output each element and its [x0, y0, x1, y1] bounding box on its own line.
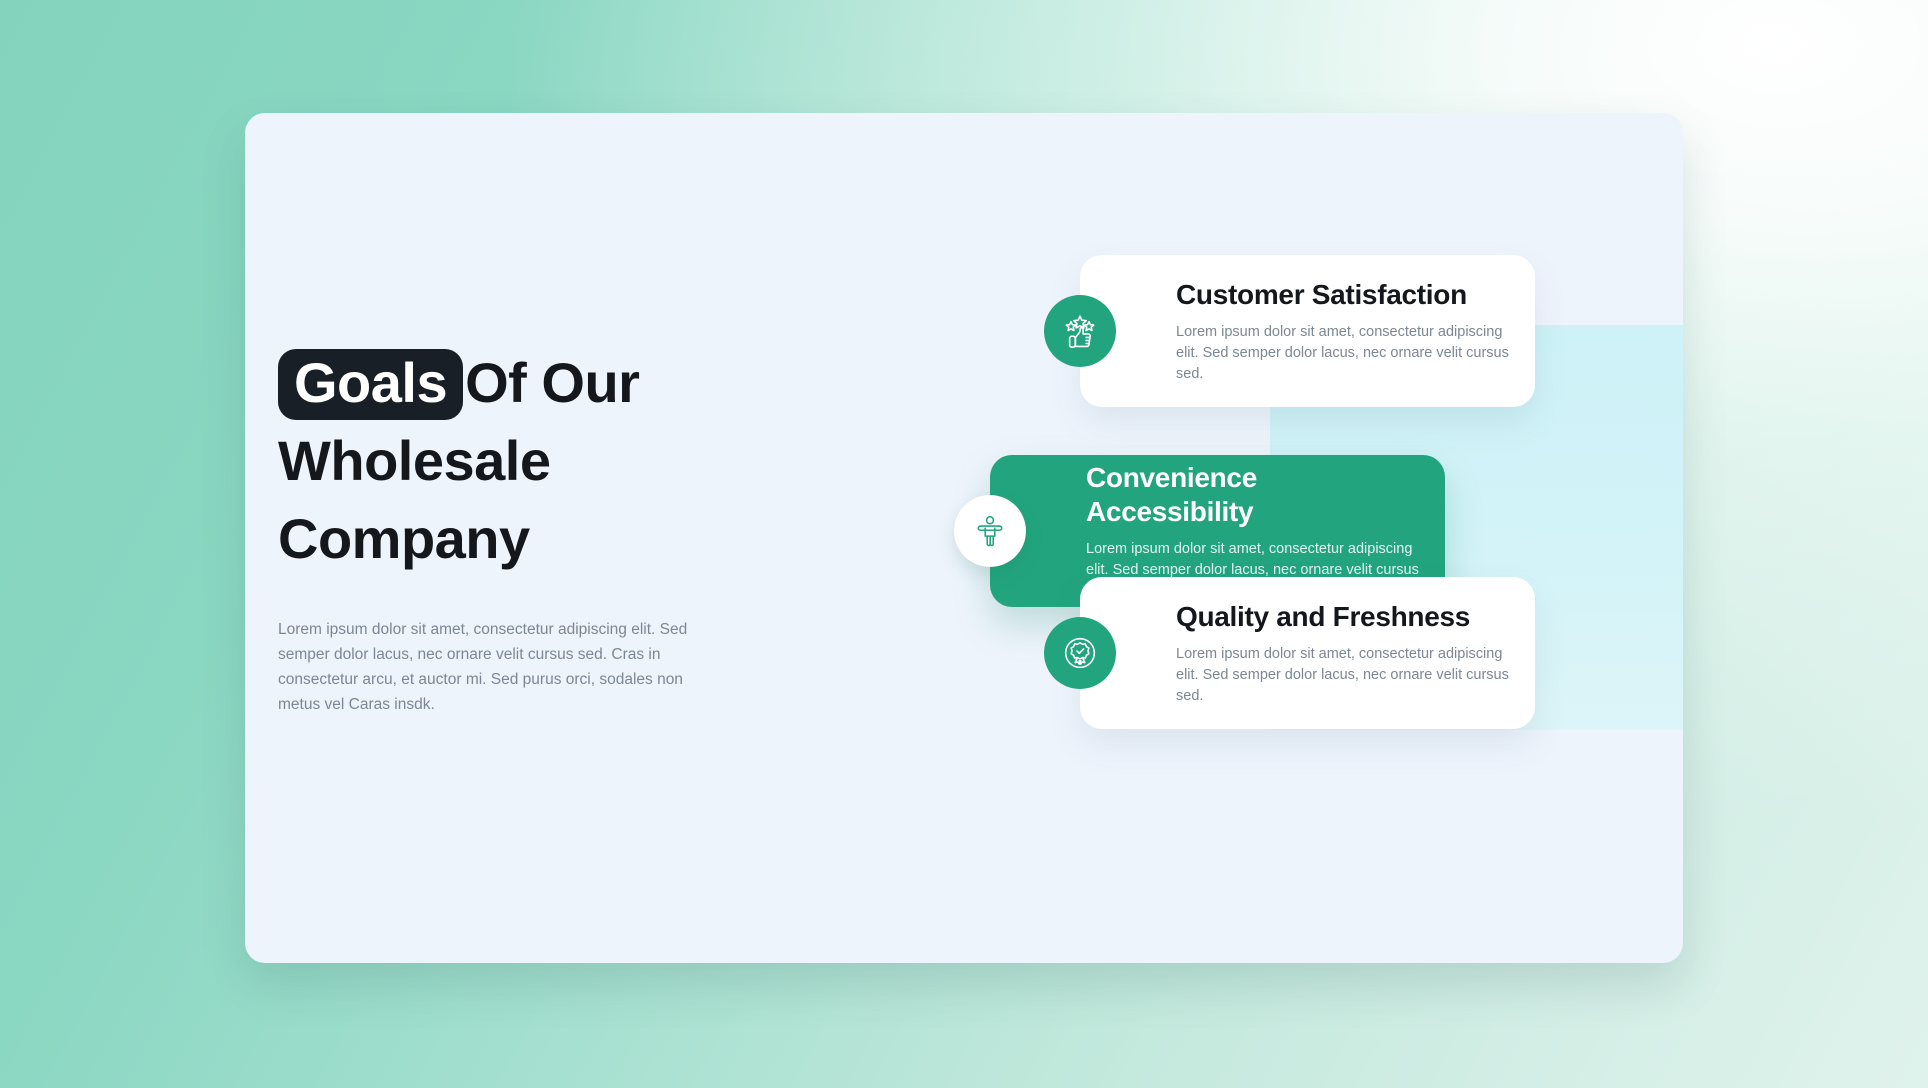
card-description: Lorem ipsum dolor sit amet, consectetur … [1176, 322, 1509, 385]
feature-card-quality-freshness[interactable]: Quality and Freshness Lorem ipsum dolor … [1080, 577, 1535, 729]
slide-canvas: GoalsOf Our Wholesale Company Lorem ipsu… [0, 0, 1928, 1088]
headline-line-3: Company [278, 501, 798, 577]
page-title: GoalsOf Our Wholesale Company [278, 345, 798, 577]
award-badge-check-icon [1044, 617, 1116, 689]
intro-paragraph: Lorem ipsum dolor sit amet, consectetur … [278, 617, 690, 717]
card-body: Quality and Freshness Lorem ipsum dolor … [1080, 600, 1535, 707]
thumbs-up-stars-icon [1044, 295, 1116, 367]
headline-after-chip: Of Our [465, 351, 639, 414]
headline-highlight-chip: Goals [278, 349, 463, 420]
feature-card-customer-satisfaction[interactable]: Customer Satisfaction Lorem ipsum dolor … [1080, 255, 1535, 407]
card-title: Customer Satisfaction [1176, 278, 1509, 312]
content-panel: GoalsOf Our Wholesale Company Lorem ipsu… [245, 113, 1683, 963]
card-title: Quality and Freshness [1176, 600, 1509, 634]
headline-line-2: Wholesale [278, 423, 798, 499]
card-body: Customer Satisfaction Lorem ipsum dolor … [1080, 278, 1535, 385]
card-description: Lorem ipsum dolor sit amet, consectetur … [1176, 644, 1509, 707]
card-title: Convenience Accessibility [1086, 461, 1419, 529]
left-column: GoalsOf Our Wholesale Company Lorem ipsu… [278, 345, 798, 717]
accessibility-person-icon [954, 495, 1026, 567]
